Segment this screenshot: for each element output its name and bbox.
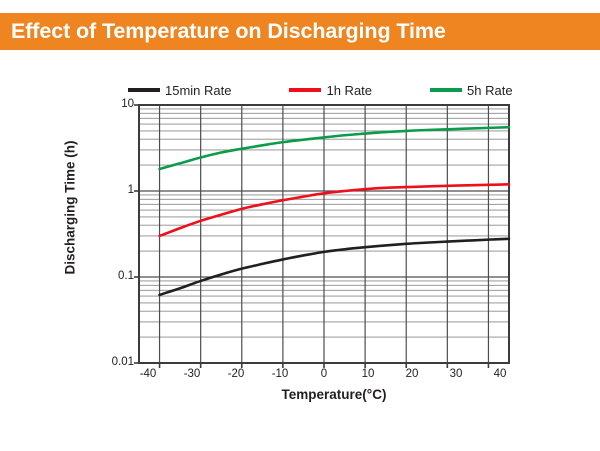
x-axis-title-text: Temperature(°C) — [214, 387, 387, 402]
x-tick--10: -10 — [260, 368, 300, 380]
x-tick-labels: -40 -30 -20 -10 0 10 20 30 40 — [0, 50, 600, 390]
x-tick-10: 10 — [348, 368, 388, 380]
title-banner: Effect of Temperature on Discharging Tim… — [0, 13, 600, 50]
x-tick-0: 0 — [304, 368, 344, 380]
x-tick--40: -40 — [128, 368, 168, 380]
chart-figure: 15min Rate 1h Rate 5h Rate Discharging T… — [0, 50, 600, 451]
x-tick--30: -30 — [172, 368, 212, 380]
x-tick-30: 30 — [436, 368, 476, 380]
x-tick-20: 20 — [392, 368, 432, 380]
x-tick--20: -20 — [216, 368, 256, 380]
x-tick-40: 40 — [480, 368, 520, 380]
x-axis-title: Temperature(°C) — [0, 387, 600, 402]
page-title: Effect of Temperature on Discharging Tim… — [0, 19, 446, 44]
